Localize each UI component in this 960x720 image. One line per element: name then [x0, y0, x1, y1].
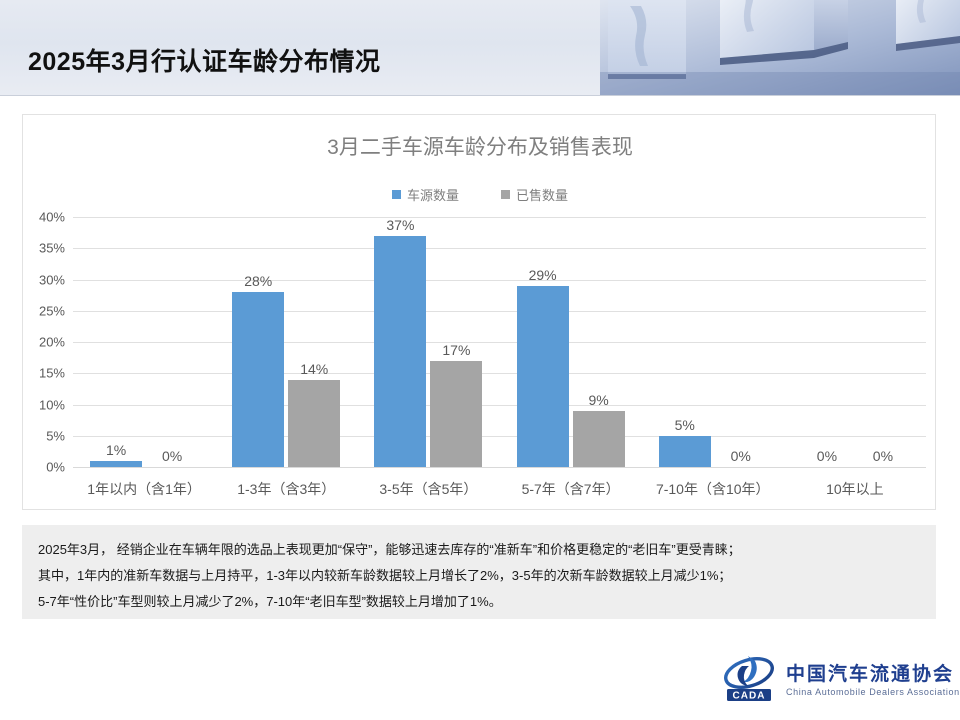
bars-layer: 1%0%28%14%37%17%29%9%5%0%0%0% — [73, 217, 926, 467]
x-axis-tick-label: 10年以上 — [784, 479, 926, 499]
bar-value-label: 9% — [573, 392, 625, 408]
bar-value-label: 37% — [374, 217, 426, 233]
x-axis-tick-label: 3-5年（含5年） — [357, 479, 499, 499]
bar[interactable] — [517, 286, 569, 467]
x-axis-tick-label: 1年以内（含1年） — [73, 479, 215, 499]
legend-item-series-1[interactable]: 已售数量 — [501, 185, 568, 204]
logo-title-cn: 中国汽车流通协会 — [786, 659, 960, 686]
summary-line: 5-7年“性价比”车型则较上月减少了2%，7-10年“老旧车型”数据较上月增加了… — [38, 589, 920, 615]
bar-group-item: 1% — [90, 217, 142, 467]
svg-text:CADA: CADA — [733, 691, 766, 702]
bar-value-label: 0% — [857, 448, 909, 464]
bar-group-item: 28% — [232, 217, 284, 467]
bar-value-label: 0% — [146, 448, 198, 464]
legend-item-series-0[interactable]: 车源数量 — [392, 185, 459, 204]
bar-value-label: 28% — [232, 273, 284, 289]
summary-textbox: 2025年3月， 经销企业在车辆年限的选品上表现更加“保守”，能够迅速去库存的“… — [22, 525, 936, 619]
x-axis-tick-label: 5-7年（含7年） — [500, 479, 642, 499]
bar-group-item: 9% — [573, 217, 625, 467]
legend-swatch-icon — [501, 190, 510, 199]
y-axis-tick-label: 35% — [39, 241, 65, 256]
bar-value-label: 14% — [288, 361, 340, 377]
y-axis-tick-label: 30% — [39, 272, 65, 287]
bar-value-label: 29% — [517, 267, 569, 283]
legend-label: 已售数量 — [516, 185, 568, 204]
plot-area: 40%35%30%25%20%15%10%5%0% 1%0%28%14%37%1… — [23, 217, 937, 511]
bar-group-item: 37% — [374, 217, 426, 467]
bar-value-label: 17% — [430, 342, 482, 358]
y-axis-tick-label: 40% — [39, 210, 65, 225]
bar[interactable] — [288, 380, 340, 468]
footer-logo: CADA 中国汽车流通协会 China Automobile Dealers A… — [722, 650, 944, 706]
x-axis-tick-label: 7-10年（含10年） — [642, 479, 784, 499]
cada-emblem-icon: CADA — [722, 653, 778, 703]
bar-group-item: 0% — [715, 217, 767, 467]
bar-group-item: 0% — [857, 217, 909, 467]
bar[interactable] — [430, 361, 482, 467]
x-axis: 1年以内（含1年）1-3年（含3年）3-5年（含5年）5-7年（含7年）7-10… — [73, 469, 926, 509]
summary-line: 其中，1年内的准新车数据与上月持平，1-3年以内较新车龄数据较上月增长了2%，3… — [38, 563, 920, 589]
bar-value-label: 1% — [90, 442, 142, 458]
y-axis-tick-label: 20% — [39, 335, 65, 350]
chart-panel: 3月二手车源车龄分布及销售表现 车源数量 已售数量 40%35%30%25%20… — [22, 114, 936, 510]
x-axis-tick-label: 1-3年（含3年） — [215, 479, 357, 499]
summary-line: 2025年3月， 经销企业在车辆年限的选品上表现更加“保守”，能够迅速去库存的“… — [38, 537, 920, 563]
legend-swatch-icon — [392, 190, 401, 199]
bar[interactable] — [374, 236, 426, 467]
chart-title: 3月二手车源车龄分布及销售表现 — [23, 131, 937, 161]
bar[interactable] — [659, 436, 711, 467]
y-axis-tick-label: 0% — [46, 460, 65, 475]
blue-cubes-image — [600, 0, 960, 96]
bar[interactable] — [90, 461, 142, 467]
y-axis-tick-label: 10% — [39, 397, 65, 412]
bar-group-item: 0% — [146, 217, 198, 467]
y-axis-tick-label: 25% — [39, 303, 65, 318]
bar-group-item: 29% — [517, 217, 569, 467]
bar-group-item: 17% — [430, 217, 482, 467]
gridline — [73, 467, 926, 468]
slide-header: 2025年3月行认证车龄分布情况 — [0, 0, 960, 96]
bar-group-item: 5% — [659, 217, 711, 467]
bar[interactable] — [232, 292, 284, 467]
y-axis-tick-label: 15% — [39, 366, 65, 381]
header-divider — [0, 95, 960, 96]
bar-value-label: 0% — [801, 448, 853, 464]
bar-group-item: 14% — [288, 217, 340, 467]
page-title: 2025年3月行认证车龄分布情况 — [28, 42, 381, 78]
chart-legend: 车源数量 已售数量 — [23, 185, 937, 204]
y-axis: 40%35%30%25%20%15%10%5%0% — [23, 217, 69, 467]
bar-value-label: 5% — [659, 417, 711, 433]
bar-value-label: 0% — [715, 448, 767, 464]
y-axis-tick-label: 5% — [46, 428, 65, 443]
legend-label: 车源数量 — [407, 185, 459, 204]
bar-group-item: 0% — [801, 217, 853, 467]
logo-title-en: China Automobile Dealers Association — [786, 687, 960, 697]
bar[interactable] — [573, 411, 625, 467]
